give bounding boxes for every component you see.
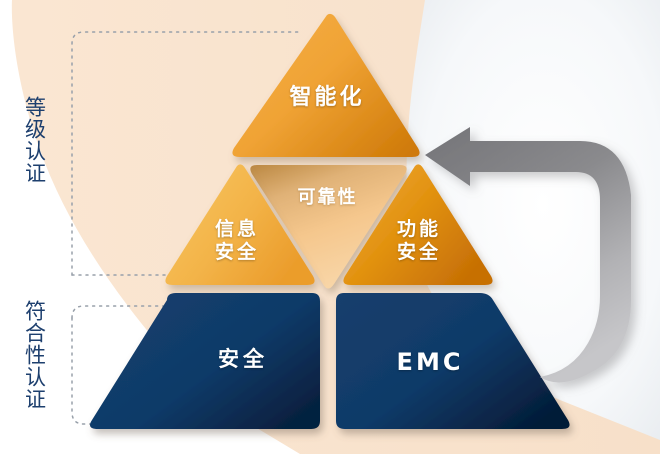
tier-label-safety: 安全 xyxy=(173,347,313,373)
tier-label-reliability: 可靠性 xyxy=(270,187,385,209)
tier-label-infosec: 信息 安全 xyxy=(189,218,285,264)
side-label-compliance: 符合性认证 xyxy=(22,300,46,410)
tier-label-emc: EMC xyxy=(355,348,505,377)
side-label-grade: 等级认证 xyxy=(22,96,46,184)
tier-label-smart: 智能化 xyxy=(262,84,392,111)
tier-label-funcsafe: 功能 安全 xyxy=(371,218,467,264)
pyramid-diagram-svg xyxy=(0,0,660,454)
diagram-canvas: 等级认证 符合性认证 智能化 可靠性 信息 安全 功能 安全 安全 EMC xyxy=(0,0,660,454)
